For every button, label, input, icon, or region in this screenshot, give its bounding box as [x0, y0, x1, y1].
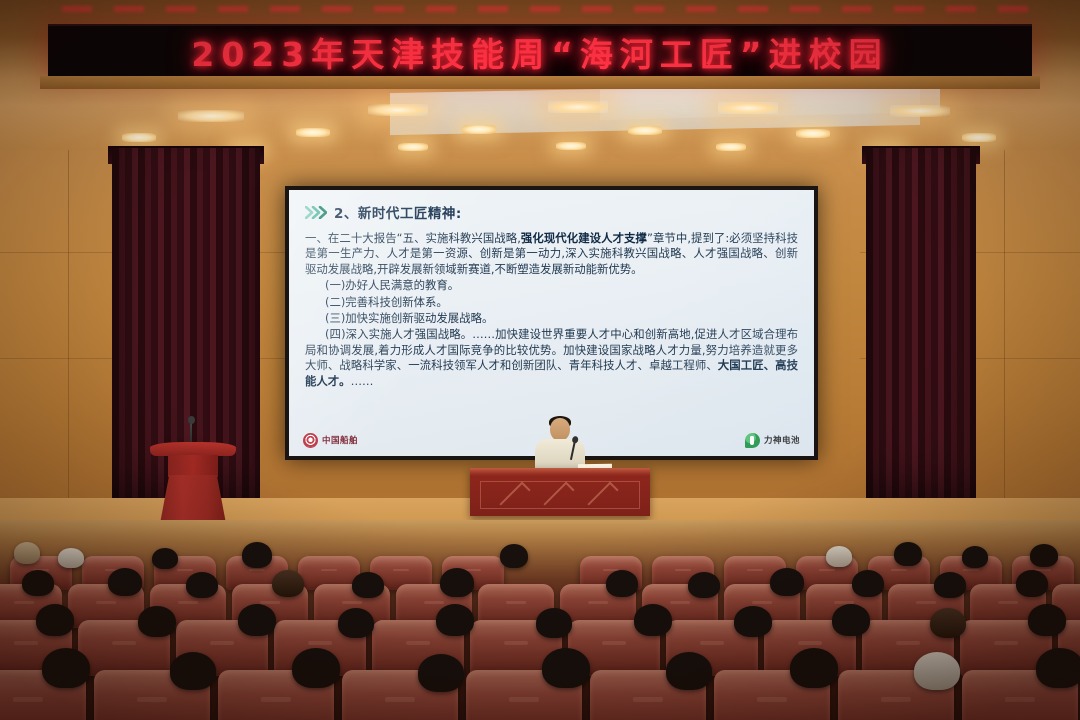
slide-paragraph-2: (一)办好人民满意的教育。: [305, 278, 798, 293]
desk-chevron-decoration: [543, 481, 574, 512]
slide-paragraph-1: 一、在二十大报告“五、实施科教兴国战略,强化现代化建设人才支撑”章节中,提到了:…: [305, 231, 798, 277]
ceiling-light: [548, 101, 608, 113]
audience-head: [352, 572, 384, 598]
audience-head: [108, 568, 142, 596]
red-seal-emblem-icon: [303, 433, 318, 448]
audience-head: [894, 542, 922, 566]
audience-head: [634, 604, 672, 636]
led-strip-glow: [40, 6, 1040, 12]
ceiling-light: [716, 143, 746, 151]
audience-head: [914, 652, 960, 690]
podium-top: [150, 442, 236, 456]
presentation-slide: 2、新时代工匠精神: 一、在二十大报告“五、实施科教兴国战略,强化现代化建设人才…: [289, 190, 814, 456]
projection-screen: 2、新时代工匠精神: 一、在二十大报告“五、实施科教兴国战略,强化现代化建设人才…: [289, 190, 814, 456]
audience-head: [542, 648, 590, 688]
audience-head: [666, 652, 712, 690]
audience-head: [962, 546, 988, 568]
audience-head: [770, 568, 804, 596]
audience-head: [930, 608, 966, 638]
ceiling-light: [796, 129, 830, 138]
presenter-head: [550, 418, 570, 441]
right-logo-label: 力神电池: [764, 434, 800, 446]
ceiling-light: [890, 105, 950, 117]
slide-heading-row: 2、新时代工匠精神:: [305, 202, 798, 222]
audience-head: [852, 570, 884, 597]
ceiling-light: [296, 128, 330, 137]
podium-neck: [168, 455, 218, 477]
ceiling-light: [462, 125, 496, 134]
audience-head: [688, 572, 720, 598]
audience-head: [170, 652, 216, 690]
audience-head: [500, 544, 528, 568]
double-chevron-icon: [305, 206, 327, 219]
slide-paragraph-3: (二)完善科技创新体系。: [305, 295, 798, 310]
audience-head: [152, 548, 178, 569]
audience-head: [292, 648, 340, 688]
audience-head: [186, 572, 218, 598]
audience-head: [734, 606, 772, 637]
ceiling-light: [368, 104, 428, 116]
ceiling-light: [962, 133, 996, 142]
desk-chevron-decoration: [587, 481, 618, 512]
ceiling-light: [556, 142, 586, 150]
audience-head: [418, 654, 464, 692]
left-logo-label: 中国船舶: [322, 434, 358, 446]
audience-head: [1030, 544, 1058, 567]
audience-head: [242, 542, 272, 568]
audience-head: [58, 548, 84, 568]
stage-curtain-right: [866, 148, 976, 520]
audience-seating: [0, 520, 1080, 720]
audience-head: [832, 604, 870, 636]
desk-front-panel: [480, 481, 640, 509]
audience-head: [36, 604, 74, 636]
audience-head: [138, 606, 176, 637]
logo-lishen-battery: 力神电池: [745, 433, 800, 448]
wall-seam: [1004, 150, 1005, 500]
audience-head: [338, 608, 374, 638]
ceiling-light: [122, 133, 156, 142]
audience-head: [42, 648, 90, 688]
audience-head: [1036, 648, 1080, 688]
audience-head: [536, 608, 572, 638]
banner-shelf: [40, 76, 1040, 89]
presenter-desk: [470, 468, 650, 516]
audience-head: [1028, 604, 1066, 636]
led-banner-text: 2023年天津技能周“海河工匠”进校园: [191, 28, 888, 76]
logo-zhongguo-chuanbo: 中国船舶: [303, 433, 358, 448]
audience-head: [22, 570, 54, 596]
audience-head: [436, 604, 474, 636]
audience-head: [606, 570, 638, 597]
audience-head: [14, 542, 40, 564]
podium-microphone: [190, 420, 192, 444]
audience-head: [790, 648, 838, 688]
desk-top-lip: [470, 468, 650, 475]
audience-head: [440, 568, 474, 597]
audience-head: [826, 546, 852, 567]
slide-title: 2、新时代工匠精神:: [334, 202, 462, 222]
audience-head: [238, 604, 276, 636]
green-leaf-logo-icon: [745, 433, 760, 448]
slide-paragraph-4: (三)加快实施创新驱动发展战略。: [305, 311, 798, 326]
auditorium-photo: 2023年天津技能周“海河工匠”进校园 2、新时代工匠精神:: [0, 0, 1080, 720]
ceiling-light: [628, 126, 662, 135]
audience-head: [934, 572, 966, 598]
slide-paragraph-5: (四)深入实施人才强国战略。……加快建设世界重要人才中心和创新高地,促进人才区域…: [305, 327, 798, 389]
led-banner: 2023年天津技能周“海河工匠”进校园: [48, 24, 1032, 78]
audience-head: [272, 570, 304, 597]
ceiling-light: [178, 110, 244, 122]
audience-head: [1016, 570, 1048, 597]
ceiling-light: [398, 143, 428, 151]
ceiling-light: [718, 102, 778, 114]
desk-chevron-decoration: [499, 481, 530, 512]
wall-seam: [68, 150, 69, 500]
